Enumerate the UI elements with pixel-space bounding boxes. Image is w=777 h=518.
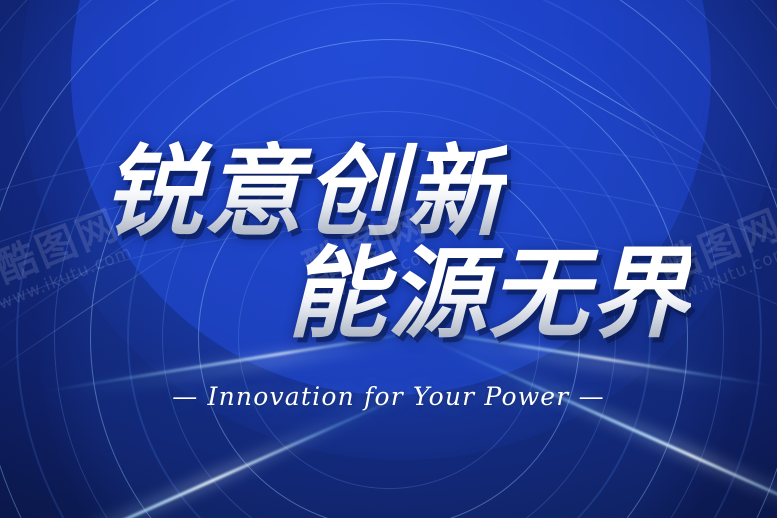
headline-line-1: 锐意创新 — [103, 141, 507, 245]
headline-block: 锐意创新 能源无界 — [0, 0, 777, 518]
tagline: — Innovation for Your Power — — [0, 382, 777, 411]
headline-line-2: 能源无界 — [287, 243, 691, 347]
poster-canvas: 锐意创新 能源无界 — Innovation for Your Power — … — [0, 0, 777, 518]
